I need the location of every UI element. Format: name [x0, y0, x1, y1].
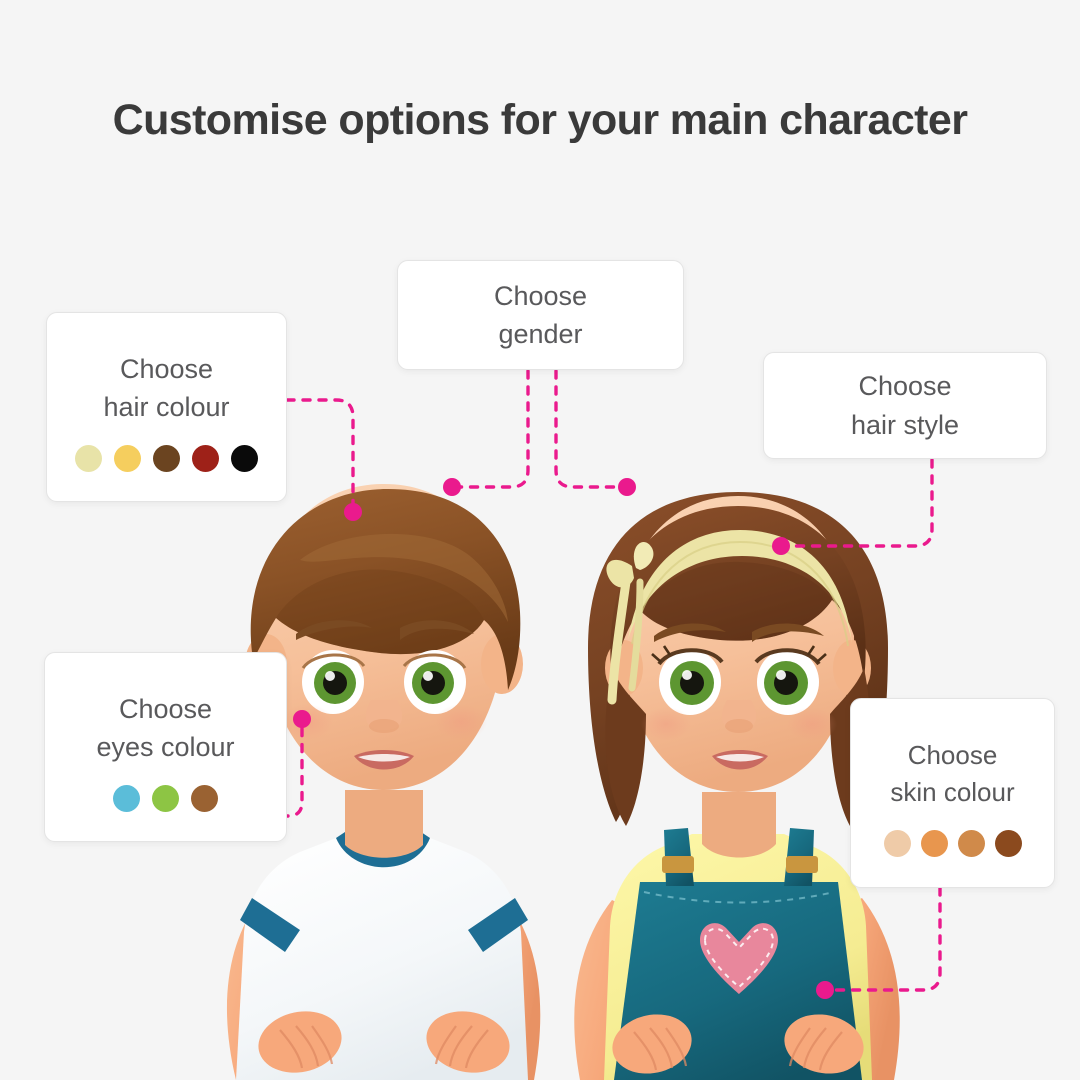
- card-gender[interactable]: Choose gender: [397, 260, 684, 370]
- eyes-colour-swatch-blue[interactable]: [113, 785, 140, 812]
- card-skin-colour[interactable]: Choose skin colour: [850, 698, 1055, 888]
- card-hair-colour[interactable]: Choose hair colour: [46, 312, 287, 502]
- hair-colour-swatch-auburn-red[interactable]: [192, 445, 219, 472]
- skin-colour-swatch-medium-light[interactable]: [921, 830, 948, 857]
- skin-colour-swatch-light[interactable]: [884, 830, 911, 857]
- card-eyes-colour[interactable]: Choose eyes colour: [44, 652, 287, 842]
- eyes-colour-swatch-list: [113, 785, 218, 812]
- customiser-stage: Customise options for your main characte…: [0, 0, 1080, 1080]
- card-gender-label: Choose gender: [494, 277, 587, 354]
- hair-colour-swatch-golden-blonde[interactable]: [114, 445, 141, 472]
- hair-colour-swatch-platinum-blonde[interactable]: [75, 445, 102, 472]
- card-hair-colour-label: Choose hair colour: [103, 350, 229, 427]
- eyes-colour-swatch-green[interactable]: [152, 785, 179, 812]
- skin-colour-swatch-tan[interactable]: [958, 830, 985, 857]
- skin-colour-swatch-dark[interactable]: [995, 830, 1022, 857]
- card-eyes-colour-label: Choose eyes colour: [96, 690, 234, 767]
- card-skin-colour-label: Choose skin colour: [890, 737, 1014, 811]
- skin-colour-swatch-list: [884, 830, 1022, 857]
- hair-colour-swatch-brown[interactable]: [153, 445, 180, 472]
- card-hair-style[interactable]: Choose hair style: [763, 352, 1047, 459]
- character-illustration: [0, 0, 1080, 1080]
- hair-colour-swatch-black[interactable]: [231, 445, 258, 472]
- hair-colour-swatch-list: [75, 445, 258, 472]
- eyes-colour-swatch-brown[interactable]: [191, 785, 218, 812]
- card-hair-style-label: Choose hair style: [851, 367, 959, 444]
